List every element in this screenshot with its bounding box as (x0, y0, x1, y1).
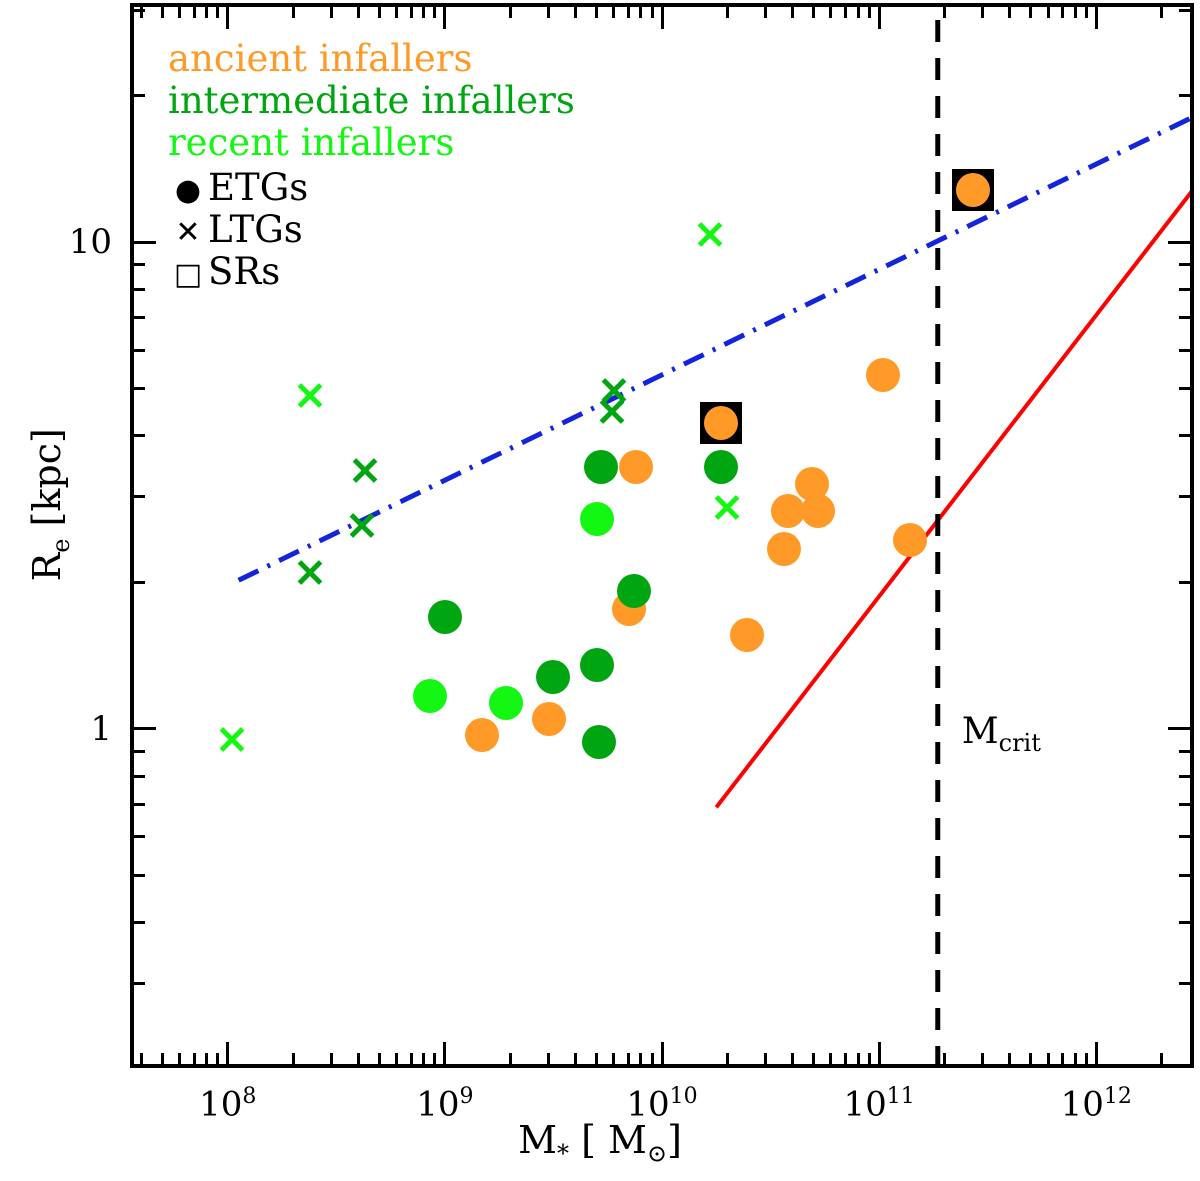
legend-symbol-label-ltg: LTGs (208, 208, 303, 251)
x-axis-tick (868, 1053, 871, 1066)
mcrit-label-main: M (962, 711, 999, 752)
x-axis-tick (844, 5, 847, 18)
y-axis-tick (1179, 94, 1192, 97)
x-axis-tick (878, 5, 881, 29)
x-axis-tick (812, 1053, 815, 1066)
figure-canvas: 108109101010111012 110 ancient infallers… (0, 0, 1200, 1181)
x-axis-tick (378, 1053, 381, 1066)
legend-symbol-row-ltg: ✕LTGs (168, 209, 575, 251)
x-axis-tick (639, 1053, 642, 1066)
x-axis-tick (226, 5, 229, 29)
legend-sr-icon: □ (168, 258, 208, 292)
x-axis-tick (791, 1053, 794, 1066)
y-axis-tick (1179, 387, 1192, 390)
legend: ancient infallersintermediate infallersr… (168, 38, 575, 293)
x-axis-tick (943, 5, 946, 18)
x-axis-tick (1160, 5, 1163, 18)
y-axis-tick (132, 94, 145, 97)
x-axis-tick (981, 5, 984, 18)
y-axis-tick (1168, 241, 1192, 244)
x-axis-tick (330, 5, 333, 18)
x-axis-tick (178, 1053, 181, 1066)
x-axis-tick (981, 1053, 984, 1066)
x-axis-tick (1160, 1053, 1163, 1066)
x-axis-tick (661, 1042, 664, 1066)
y-axis-tick (1179, 349, 1192, 352)
y-axis-tick (132, 263, 145, 266)
x-axis-tick (330, 1053, 333, 1066)
x-axis-tick (1061, 5, 1064, 18)
y-axis-tick (1179, 921, 1192, 924)
y-axis-tick (1179, 581, 1192, 584)
legend-symbol-row-sr: □SRs (168, 251, 575, 293)
x-axis-tick (395, 5, 398, 18)
x-axis-tick (140, 1053, 143, 1066)
x-title-bracket-open: [ (581, 1118, 596, 1162)
x-title-bracket-close: ] (667, 1118, 682, 1162)
x-axis-tick (764, 1053, 767, 1066)
x-axis-tick (726, 5, 729, 18)
x-tick-exp: 10 (670, 1084, 698, 1109)
x-axis-tick (878, 1042, 881, 1066)
x-axis-tick (651, 5, 654, 18)
x-axis-tick (1085, 5, 1088, 18)
x-axis-tick (627, 1053, 630, 1066)
x-axis-tick (627, 5, 630, 18)
x-axis-tick (216, 5, 219, 18)
y-axis-tick (132, 434, 145, 437)
x-tick-exp: 11 (887, 1084, 915, 1109)
x-axis-tick (395, 1053, 398, 1066)
x-axis-tick (812, 5, 815, 18)
y-axis-tick (1168, 727, 1192, 730)
x-axis-tick (1074, 1053, 1077, 1066)
legend-group-ancient: ancient infallers (168, 38, 575, 80)
y-axis-tick (1179, 750, 1192, 753)
y-title-r: R (25, 553, 69, 582)
x-tick-exp: 9 (459, 1084, 473, 1109)
x-axis-tick (574, 5, 577, 18)
x-axis-tick (844, 1053, 847, 1066)
x-axis-tick (433, 5, 436, 18)
x-title-m: M (518, 1118, 557, 1162)
x-axis-tick (509, 1053, 512, 1066)
legend-group-label-recent: recent infallers (168, 121, 454, 164)
x-axis-tick (868, 5, 871, 18)
y-tick-label-10: 10 (40, 222, 112, 262)
x-axis-tick (764, 5, 767, 18)
x-axis-tick (791, 5, 794, 18)
x-axis-tick (612, 5, 615, 18)
y-axis-tick (1179, 9, 1192, 12)
x-axis-tick (857, 1053, 860, 1066)
y-axis-tick (132, 495, 145, 498)
y-axis-tick (132, 288, 145, 291)
x-axis-tick (443, 1042, 446, 1066)
y-axis-tick (132, 387, 145, 390)
y-axis-tick (1179, 835, 1192, 838)
y-axis-tick (132, 9, 145, 12)
x-axis-tick (639, 5, 642, 18)
x-axis-tick (1047, 1053, 1050, 1066)
y-axis-tick (132, 835, 145, 838)
x-axis-tick (857, 5, 860, 18)
x-axis-tick (410, 5, 413, 18)
x-axis-tick (193, 5, 196, 18)
y-axis-tick (132, 349, 145, 352)
x-axis-tick (547, 5, 550, 18)
x-axis-tick (443, 5, 446, 29)
x-axis-tick (292, 5, 295, 18)
y-axis-title: Re [kpc] (25, 305, 75, 705)
x-axis-tick (357, 5, 360, 18)
y-axis-tick (1179, 434, 1192, 437)
x-title-msun-sub: ⊙ (647, 1140, 667, 1168)
x-axis-tick (726, 1053, 729, 1066)
x-axis-tick (612, 1053, 615, 1066)
x-axis-tick (574, 1053, 577, 1066)
x-axis-tick (943, 1053, 946, 1066)
x-axis-tick (292, 1053, 295, 1066)
x-axis-tick (1008, 5, 1011, 18)
x-axis-tick (205, 5, 208, 18)
y-axis-tick (132, 921, 145, 924)
y-title-sub: e (47, 539, 75, 553)
x-axis-tick (1074, 5, 1077, 18)
y-axis-tick (1179, 874, 1192, 877)
x-axis-tick (547, 1053, 550, 1066)
x-tick-exp: 8 (242, 1084, 256, 1109)
x-axis-tick (378, 5, 381, 18)
legend-etg-icon: ● (168, 174, 208, 208)
y-axis-tick (1179, 263, 1192, 266)
y-axis-tick (132, 982, 145, 985)
mcrit-label-sub: crit (999, 729, 1041, 757)
y-axis-tick (132, 316, 145, 319)
y-axis-tick (132, 775, 145, 778)
x-axis-tick (1029, 1053, 1032, 1066)
legend-group-recent: recent infallers (168, 122, 575, 164)
x-axis-title: M* [ M⊙] (0, 1118, 1200, 1168)
legend-symbol-label-etg: ETGs (208, 166, 308, 209)
x-axis-tick (661, 5, 664, 29)
x-axis-tick (357, 1053, 360, 1066)
x-axis-tick (1095, 1042, 1098, 1066)
x-axis-tick (410, 1053, 413, 1066)
y-axis-tick (1179, 775, 1192, 778)
y-title-bracket: [kpc] (25, 428, 69, 526)
legend-group-label-intermediate: intermediate infallers (168, 79, 575, 122)
x-axis-tick (178, 5, 181, 18)
x-axis-tick (651, 1053, 654, 1066)
legend-group-intermediate: intermediate infallers (168, 80, 575, 122)
x-title-msun: M (608, 1118, 647, 1162)
x-axis-tick (216, 1053, 219, 1066)
x-title-star: * (557, 1140, 569, 1168)
y-axis-tick (1179, 495, 1192, 498)
x-axis-tick (1085, 1053, 1088, 1066)
x-axis-tick (205, 1053, 208, 1066)
legend-symbol-label-sr: SRs (208, 250, 280, 293)
x-axis-tick (1008, 1053, 1011, 1066)
y-axis-tick (132, 727, 156, 730)
x-axis-tick (161, 5, 164, 18)
y-axis-tick (132, 750, 145, 753)
legend-group-label-ancient: ancient infallers (168, 37, 472, 80)
mcrit-annotation-label: Mcrit (962, 711, 1041, 757)
x-axis-tick (595, 5, 598, 18)
y-axis-tick (1179, 288, 1192, 291)
y-axis-tick (1179, 316, 1192, 319)
x-axis-tick (1095, 5, 1098, 29)
y-tick-label-1: 1 (40, 709, 112, 749)
x-axis-tick (1061, 1053, 1064, 1066)
x-axis-tick (422, 5, 425, 18)
x-axis-tick (422, 1053, 425, 1066)
x-axis-tick (433, 1053, 436, 1066)
x-axis-tick (226, 1042, 229, 1066)
x-axis-tick (161, 1053, 164, 1066)
legend-ltg-icon: ✕ (168, 216, 208, 250)
x-axis-tick (193, 1053, 196, 1066)
y-axis-tick (132, 874, 145, 877)
legend-symbol-row-etg: ●ETGs (168, 167, 575, 209)
y-axis-tick (1179, 982, 1192, 985)
y-axis-tick (132, 241, 156, 244)
x-axis-tick (1047, 5, 1050, 18)
x-axis-tick (595, 1053, 598, 1066)
x-tick-exp: 12 (1104, 1084, 1132, 1109)
y-axis-tick (1179, 803, 1192, 806)
x-axis-tick (509, 5, 512, 18)
x-axis-tick (829, 1053, 832, 1066)
x-axis-tick (1029, 5, 1032, 18)
y-axis-tick (132, 803, 145, 806)
y-axis-tick (132, 581, 145, 584)
x-axis-tick (829, 5, 832, 18)
